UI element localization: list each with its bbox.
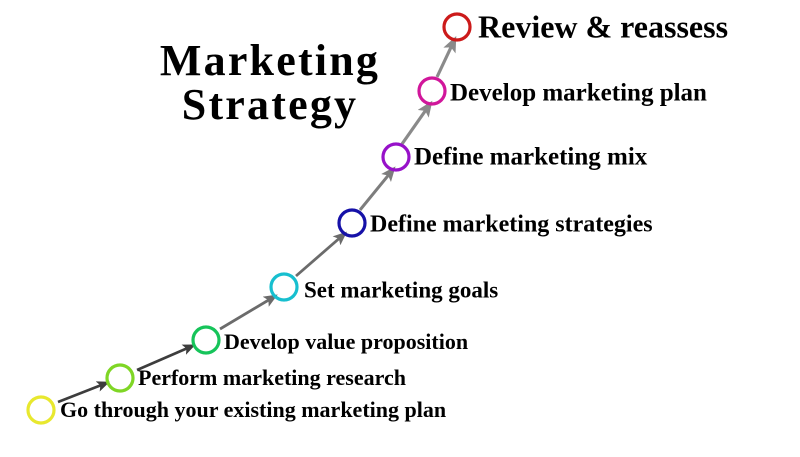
arrow-6-to-7-arrow-icon — [402, 107, 428, 144]
step-label-6: Define marketing mix — [414, 144, 648, 171]
step-node-5-circle-icon[interactable] — [339, 210, 365, 236]
diagram-canvas: Go through your existing marketing planP… — [0, 0, 800, 457]
step-node-8-circle-icon[interactable] — [444, 14, 470, 40]
arrow-7-to-8-arrow-icon — [437, 43, 453, 77]
step-label-1: Go through your existing marketing plan — [60, 397, 446, 422]
arrow-4-to-5-arrow-icon — [296, 236, 342, 276]
step-label-7: Develop marketing plan — [450, 80, 707, 107]
diagram-title-line-1: Marketing — [160, 36, 380, 85]
step-node-3-circle-icon[interactable] — [193, 327, 219, 353]
step-label-5: Define marketing strategies — [370, 212, 653, 238]
step-label-4: Set marketing goals — [304, 277, 498, 302]
step-label-8: Review & reassess — [478, 8, 728, 44]
step-node-2-circle-icon[interactable] — [107, 365, 133, 391]
diagram-title-line-2: Strategy — [182, 80, 358, 129]
step-label-2: Perform marketing research — [138, 365, 406, 390]
step-node-1-circle-icon[interactable] — [28, 397, 54, 423]
arrow-5-to-6-arrow-icon — [360, 172, 391, 210]
step-label-3: Develop value proposition — [224, 329, 468, 354]
marketing-strategy-diagram: Go through your existing marketing planP… — [0, 0, 800, 457]
step-node-6-circle-icon[interactable] — [383, 144, 409, 170]
step-node-7-circle-icon[interactable] — [419, 78, 445, 104]
arrow-3-to-4-arrow-icon — [220, 298, 272, 329]
step-node-4-circle-icon[interactable] — [271, 274, 297, 300]
